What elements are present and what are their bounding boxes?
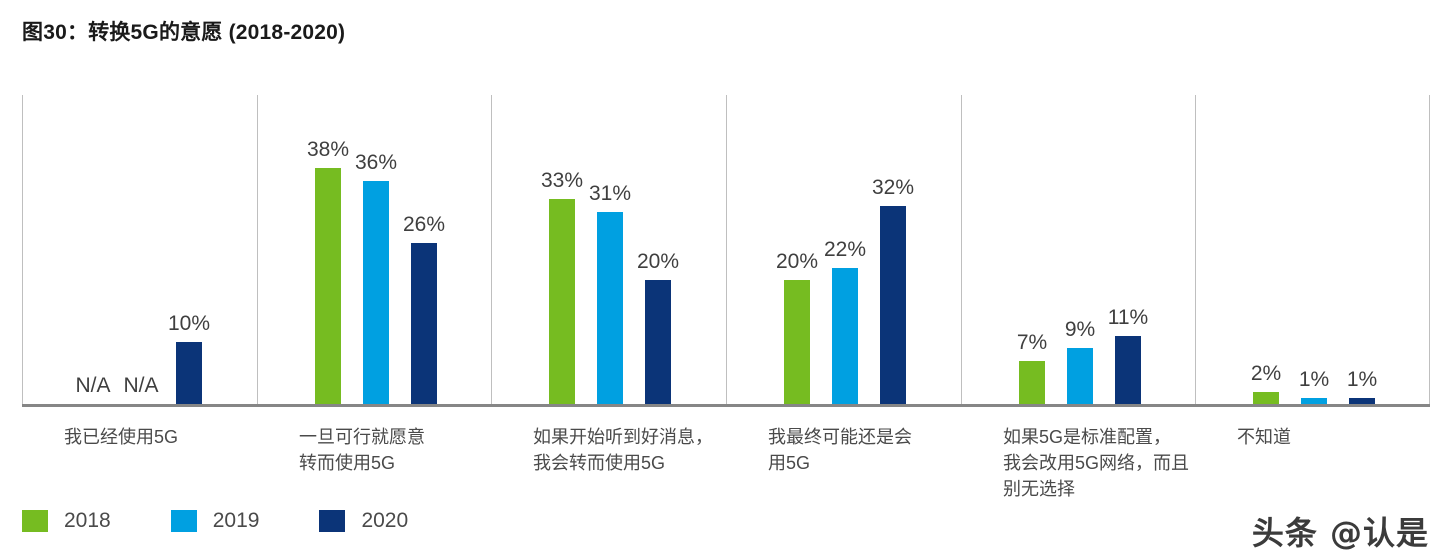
bar-value-label: 22% (810, 238, 880, 262)
bar-slot: 11% (1115, 95, 1141, 404)
bar-slot: 33% (549, 95, 575, 404)
category-label: 如果开始听到好消息， 我会转而使用5G (533, 424, 713, 476)
bar-value-label: 1% (1327, 368, 1397, 392)
bar-slot: 1% (1349, 95, 1375, 404)
bar-2018[interactable] (1253, 392, 1279, 404)
bar-value-label: 31% (575, 182, 645, 206)
bar-value-label: 20% (623, 250, 693, 274)
bar-2018[interactable] (1019, 361, 1045, 404)
bar-2020[interactable] (1115, 336, 1141, 404)
legend-label: 2020 (361, 509, 408, 533)
bar-slot: 2% (1253, 95, 1279, 404)
bar-value-label: 11% (1093, 306, 1163, 330)
legend-label: 2018 (64, 509, 111, 533)
bar-slot: 26% (411, 95, 437, 404)
bar-2020[interactable] (411, 243, 437, 404)
bar-group: 33%31%20% (491, 95, 726, 404)
bar-2019[interactable] (1301, 398, 1327, 404)
category-label: 不知道 (1237, 424, 1291, 450)
bar-slot: 36% (363, 95, 389, 404)
bar-2019[interactable] (832, 268, 858, 404)
x-axis-line (22, 404, 1430, 407)
legend-item-2020[interactable]: 2020 (319, 509, 408, 533)
bar-value-label: N/A (106, 374, 176, 398)
bar-value-label: 26% (389, 213, 459, 237)
watermark: 头条 @认是 (1252, 508, 1429, 554)
bar-2018[interactable] (315, 168, 341, 404)
legend-swatch-icon (319, 510, 345, 532)
bar-group: 7%9%11% (961, 95, 1196, 404)
bar-2020[interactable] (645, 280, 671, 404)
bar-slot: 20% (784, 95, 810, 404)
bar-slot: 32% (880, 95, 906, 404)
bar-slot: 20% (645, 95, 671, 404)
chart-plot-area: N/AN/A10%38%36%26%33%31%20%20%22%32%7%9%… (22, 95, 1430, 405)
bar-2019[interactable] (1067, 348, 1093, 404)
bar-2018[interactable] (784, 280, 810, 404)
bar-2019[interactable] (597, 212, 623, 404)
bar-value-label: 36% (341, 151, 411, 175)
category-label: 如果5G是标准配置， 我会改用5G网络，而且 别无选择 (1003, 424, 1189, 502)
bar-group: N/AN/A10% (22, 95, 257, 404)
bar-2019[interactable] (363, 181, 389, 404)
legend-swatch-icon (171, 510, 197, 532)
page-title: 图30：转换5G的意愿 (2018-2020) (22, 16, 345, 46)
bar-group: 20%22%32% (726, 95, 961, 404)
legend-item-2019[interactable]: 2019 (171, 509, 260, 533)
bar-slot: N/A (128, 95, 154, 404)
bar-slot: 38% (315, 95, 341, 404)
bar-2020[interactable] (880, 206, 906, 404)
bar-slot: 22% (832, 95, 858, 404)
bar-group: 38%36%26% (257, 95, 492, 404)
legend-label: 2019 (213, 509, 260, 533)
category-label: 我最终可能还是会 用5G (768, 424, 912, 476)
legend-swatch-icon (22, 510, 48, 532)
bar-2018[interactable] (549, 199, 575, 404)
bar-slot: 10% (176, 95, 202, 404)
bar-slot: N/A (80, 95, 106, 404)
bar-slot: 31% (597, 95, 623, 404)
bar-slot: 9% (1067, 95, 1093, 404)
bar-2020[interactable] (176, 342, 202, 404)
bar-value-label: 32% (858, 176, 928, 200)
bar-2020[interactable] (1349, 398, 1375, 404)
bar-group: 2%1%1% (1195, 95, 1430, 404)
category-label: 我已经使用5G (64, 424, 178, 450)
chart-legend: 201820192020 (22, 509, 468, 533)
bar-slot: 1% (1301, 95, 1327, 404)
bar-slot: 7% (1019, 95, 1045, 404)
category-label: 一旦可行就愿意 转而使用5G (299, 424, 425, 476)
bar-value-label: 10% (154, 312, 224, 336)
legend-item-2018[interactable]: 2018 (22, 509, 111, 533)
